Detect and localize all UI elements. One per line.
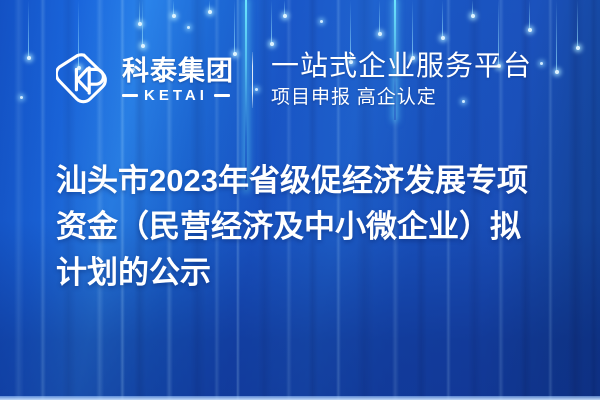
banner-title: 汕头市2023年省级促经济发展专项资金（民营经济及中小微企业）拟计划的公示 bbox=[56, 158, 562, 296]
background-streak bbox=[590, 0, 598, 400]
banner-title-line-3: 计划的公示 bbox=[56, 250, 562, 296]
falling-light-trail bbox=[209, 0, 210, 12]
promo-banner: 科泰集团 KETAI 一站式企业服务平台 项目申报 高企认定 汕头市2023年省… bbox=[0, 0, 600, 400]
falling-light-trail bbox=[271, 0, 272, 44]
brand-logo: 科泰集团 KETAI bbox=[56, 44, 234, 116]
falling-light-trail bbox=[442, 0, 443, 38]
falling-light-trail bbox=[379, 0, 380, 34]
falling-light-trail bbox=[28, 0, 29, 58]
light-particle bbox=[20, 96, 23, 99]
falling-light-trail bbox=[529, 0, 530, 30]
company-name-en-row: KETAI bbox=[122, 88, 234, 103]
falling-light-trail bbox=[173, 0, 174, 16]
falling-light-trail bbox=[556, 0, 557, 72]
falling-light-trail bbox=[142, 0, 143, 46]
background-streak bbox=[14, 0, 24, 400]
background-streak bbox=[568, 0, 584, 400]
falling-light-trail bbox=[472, 0, 473, 16]
company-name-cn: 科泰集团 bbox=[122, 57, 234, 85]
tagline-block: 一站式企业服务平台 项目申报 高企认定 bbox=[271, 51, 532, 109]
falling-light-trail bbox=[284, 0, 285, 16]
light-particle bbox=[320, 20, 323, 23]
wordmark-left-dash bbox=[122, 94, 138, 97]
falling-light-trail bbox=[577, 0, 578, 48]
header-divider bbox=[252, 52, 253, 108]
light-particle bbox=[187, 26, 190, 29]
tagline-secondary: 项目申报 高企认定 bbox=[271, 88, 532, 109]
bottom-highlight-edge bbox=[0, 396, 600, 400]
wordmark-right-dash bbox=[214, 94, 230, 97]
background-streak bbox=[40, 0, 46, 400]
brand-wordmark: 科泰集团 KETAI bbox=[122, 57, 234, 103]
banner-title-line-2: 资金（民营经济及中小微企业）拟 bbox=[56, 204, 562, 250]
tagline-primary: 一站式企业服务平台 bbox=[271, 51, 532, 82]
banner-title-line-1: 汕头市2023年省级促经济发展专项 bbox=[56, 158, 562, 204]
banner-header: 科泰集团 KETAI 一站式企业服务平台 项目申报 高企认定 bbox=[56, 44, 556, 116]
ketai-diamond-monogram-icon bbox=[56, 52, 112, 108]
falling-light-trail bbox=[139, 0, 140, 24]
company-name-en: KETAI bbox=[144, 88, 208, 103]
